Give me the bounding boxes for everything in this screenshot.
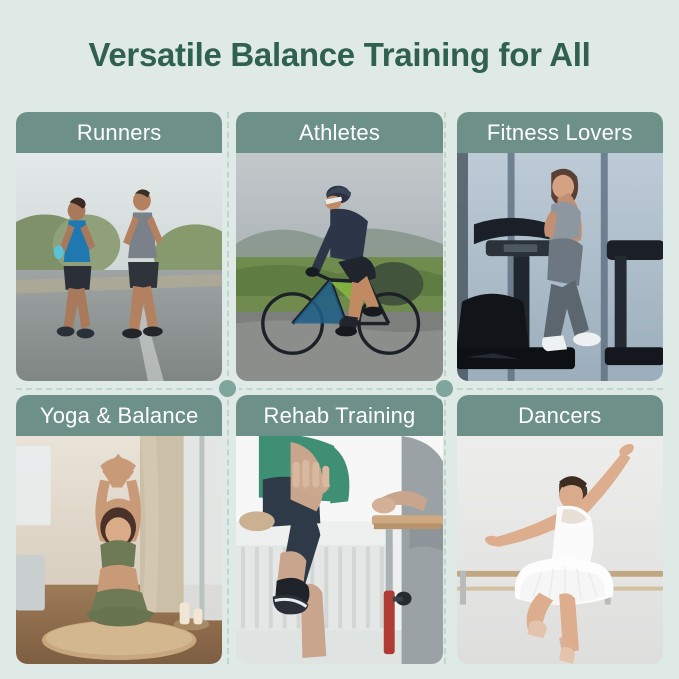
card-title-rehab-training: Rehab Training <box>263 403 415 429</box>
runners-photo-illustration <box>16 153 222 381</box>
card-title-yoga-balance: Yoga & Balance <box>40 403 199 429</box>
card-header-rehab-training: Rehab Training <box>236 395 442 436</box>
dancers-photo <box>457 436 663 664</box>
card-header-fitness-lovers: Fitness Lovers <box>457 112 663 153</box>
card-title-athletes: Athletes <box>299 120 380 146</box>
grid-node-1 <box>216 377 239 400</box>
card-title-runners: Runners <box>77 120 162 146</box>
athletes-photo <box>236 153 442 381</box>
runners-photo <box>16 153 222 381</box>
category-card-runners[interactable]: Runners <box>16 112 222 381</box>
rehab-training-photo <box>236 436 442 664</box>
rehab-training-photo-illustration <box>236 436 442 664</box>
fitness-lovers-photo-illustration <box>457 153 663 381</box>
yoga-balance-photo-illustration <box>16 436 222 664</box>
category-card-dancers[interactable]: Dancers <box>457 395 663 664</box>
category-card-athletes[interactable]: Athletes <box>236 112 442 381</box>
card-header-athletes: Athletes <box>236 112 442 153</box>
fitness-lovers-photo <box>457 153 663 381</box>
category-card-rehab-training[interactable]: Rehab Training <box>236 395 442 664</box>
card-header-dancers: Dancers <box>457 395 663 436</box>
yoga-balance-photo <box>16 436 222 664</box>
card-header-yoga-balance: Yoga & Balance <box>16 395 222 436</box>
page-title: Versatile Balance Training for All <box>0 36 679 74</box>
dancers-photo-illustration <box>457 436 663 664</box>
card-title-dancers: Dancers <box>518 403 601 429</box>
grid-divider-horizontal-1 <box>16 388 663 390</box>
grid-node-2 <box>433 377 456 400</box>
category-card-yoga-balance[interactable]: Yoga & Balance <box>16 395 222 664</box>
category-card-fitness-lovers[interactable]: Fitness Lovers <box>457 112 663 381</box>
card-title-fitness-lovers: Fitness Lovers <box>487 120 633 146</box>
athletes-photo-illustration <box>236 153 442 381</box>
card-header-runners: Runners <box>16 112 222 153</box>
